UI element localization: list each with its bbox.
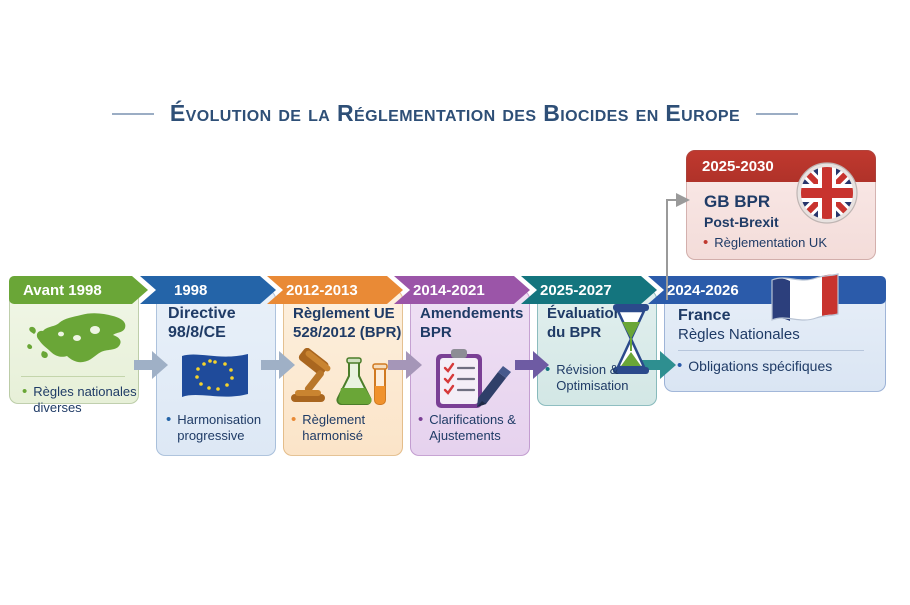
card-1-divider — [21, 376, 125, 377]
bullet-dot: • — [22, 384, 27, 416]
card-4-bullet: • Clarifications & Ajustements — [418, 412, 528, 444]
chevron-label-1: Avant 1998 — [9, 276, 102, 304]
eu-flag-icon — [176, 348, 254, 404]
card-3-bullet-text: Règlement harmonisé — [302, 412, 399, 444]
france-flag-icon — [766, 270, 844, 332]
clipboard-pen-icon — [426, 348, 516, 410]
branch-card-bullet-text: Règlementation UK — [714, 235, 827, 251]
card-3-bullet: • Règlement harmonisé — [291, 412, 399, 444]
chevron-period-1: Avant 1998 — [23, 282, 102, 299]
branch-card-period: 2025-2030 — [702, 158, 774, 175]
bullet-dot: • — [703, 235, 708, 251]
branch-card-bullet: • Règlementation UK — [703, 235, 868, 251]
pen — [477, 366, 511, 407]
chevron-label-4: 2014-2021 — [399, 276, 485, 304]
card-2-bullet: • Harmonisation progressive — [166, 412, 274, 444]
chevron-label-6: 2024-2026 — [653, 276, 739, 304]
bullet-dot: • — [418, 412, 423, 444]
card-4-bullet-text: Clarifications & Ajustements — [429, 412, 528, 444]
card-6-bullet: • Obligations spécifiques — [677, 358, 877, 374]
card-3-subtitle: 528/2012 (BPR) — [293, 323, 401, 342]
chevron-label-3: 2012-2013 — [272, 276, 358, 304]
chevron-period-2: 1998 — [174, 282, 207, 299]
card-2-subtitle: 98/8/CE — [168, 323, 226, 342]
chevron-label-2: 1998 — [160, 276, 207, 304]
chevron-period-3: 2012-2013 — [286, 282, 358, 299]
branch-card-title: GB BPR — [704, 192, 770, 211]
uk-flag-icon — [796, 162, 858, 224]
card-1-bullet-text: Règles nationales diverses — [33, 384, 137, 416]
card-5-bullet: • Révision & Optimisation — [545, 362, 649, 394]
gavel-flasks-icon — [287, 348, 399, 410]
card-3-title: Règlement UE — [293, 304, 395, 323]
card-6-bullet-text: Obligations spécifiques — [688, 358, 832, 374]
card-6-divider — [678, 350, 864, 351]
bullet-dot: • — [166, 412, 171, 444]
flasks — [337, 358, 387, 404]
europe-map-icon — [21, 306, 141, 376]
bullet-dot: • — [545, 362, 550, 394]
branch-card-subtitle: Post-Brexit — [704, 213, 779, 231]
card-2-title: Directive — [168, 304, 236, 323]
bullet-dot: • — [291, 412, 296, 444]
chevron-period-4: 2014-2021 — [413, 282, 485, 299]
card-1-bullet: • Règles nationales diverses — [22, 384, 137, 416]
chevron-period-5: 2025-2027 — [540, 282, 612, 299]
branch-card-uk[interactable]: 2025-2030 GB BPR Post-Brexit • Règlement… — [686, 150, 876, 260]
chevron-period-6: 2024-2026 — [667, 282, 739, 299]
card-4-subtitle: BPR — [420, 323, 452, 342]
timeline: • Règles nationales diverses Directive 9… — [0, 0, 910, 605]
card-5-bullet-text: Révision & Optimisation — [556, 362, 649, 394]
chevron-label-5: 2025-2027 — [526, 276, 612, 304]
card-5-subtitle: du BPR — [547, 323, 601, 342]
gavel — [291, 348, 332, 402]
card-6-title: France — [678, 306, 730, 325]
card-4-title: Amendements — [420, 304, 523, 323]
bullet-dot: • — [677, 358, 682, 374]
card-2-bullet-text: Harmonisation progressive — [177, 412, 274, 444]
